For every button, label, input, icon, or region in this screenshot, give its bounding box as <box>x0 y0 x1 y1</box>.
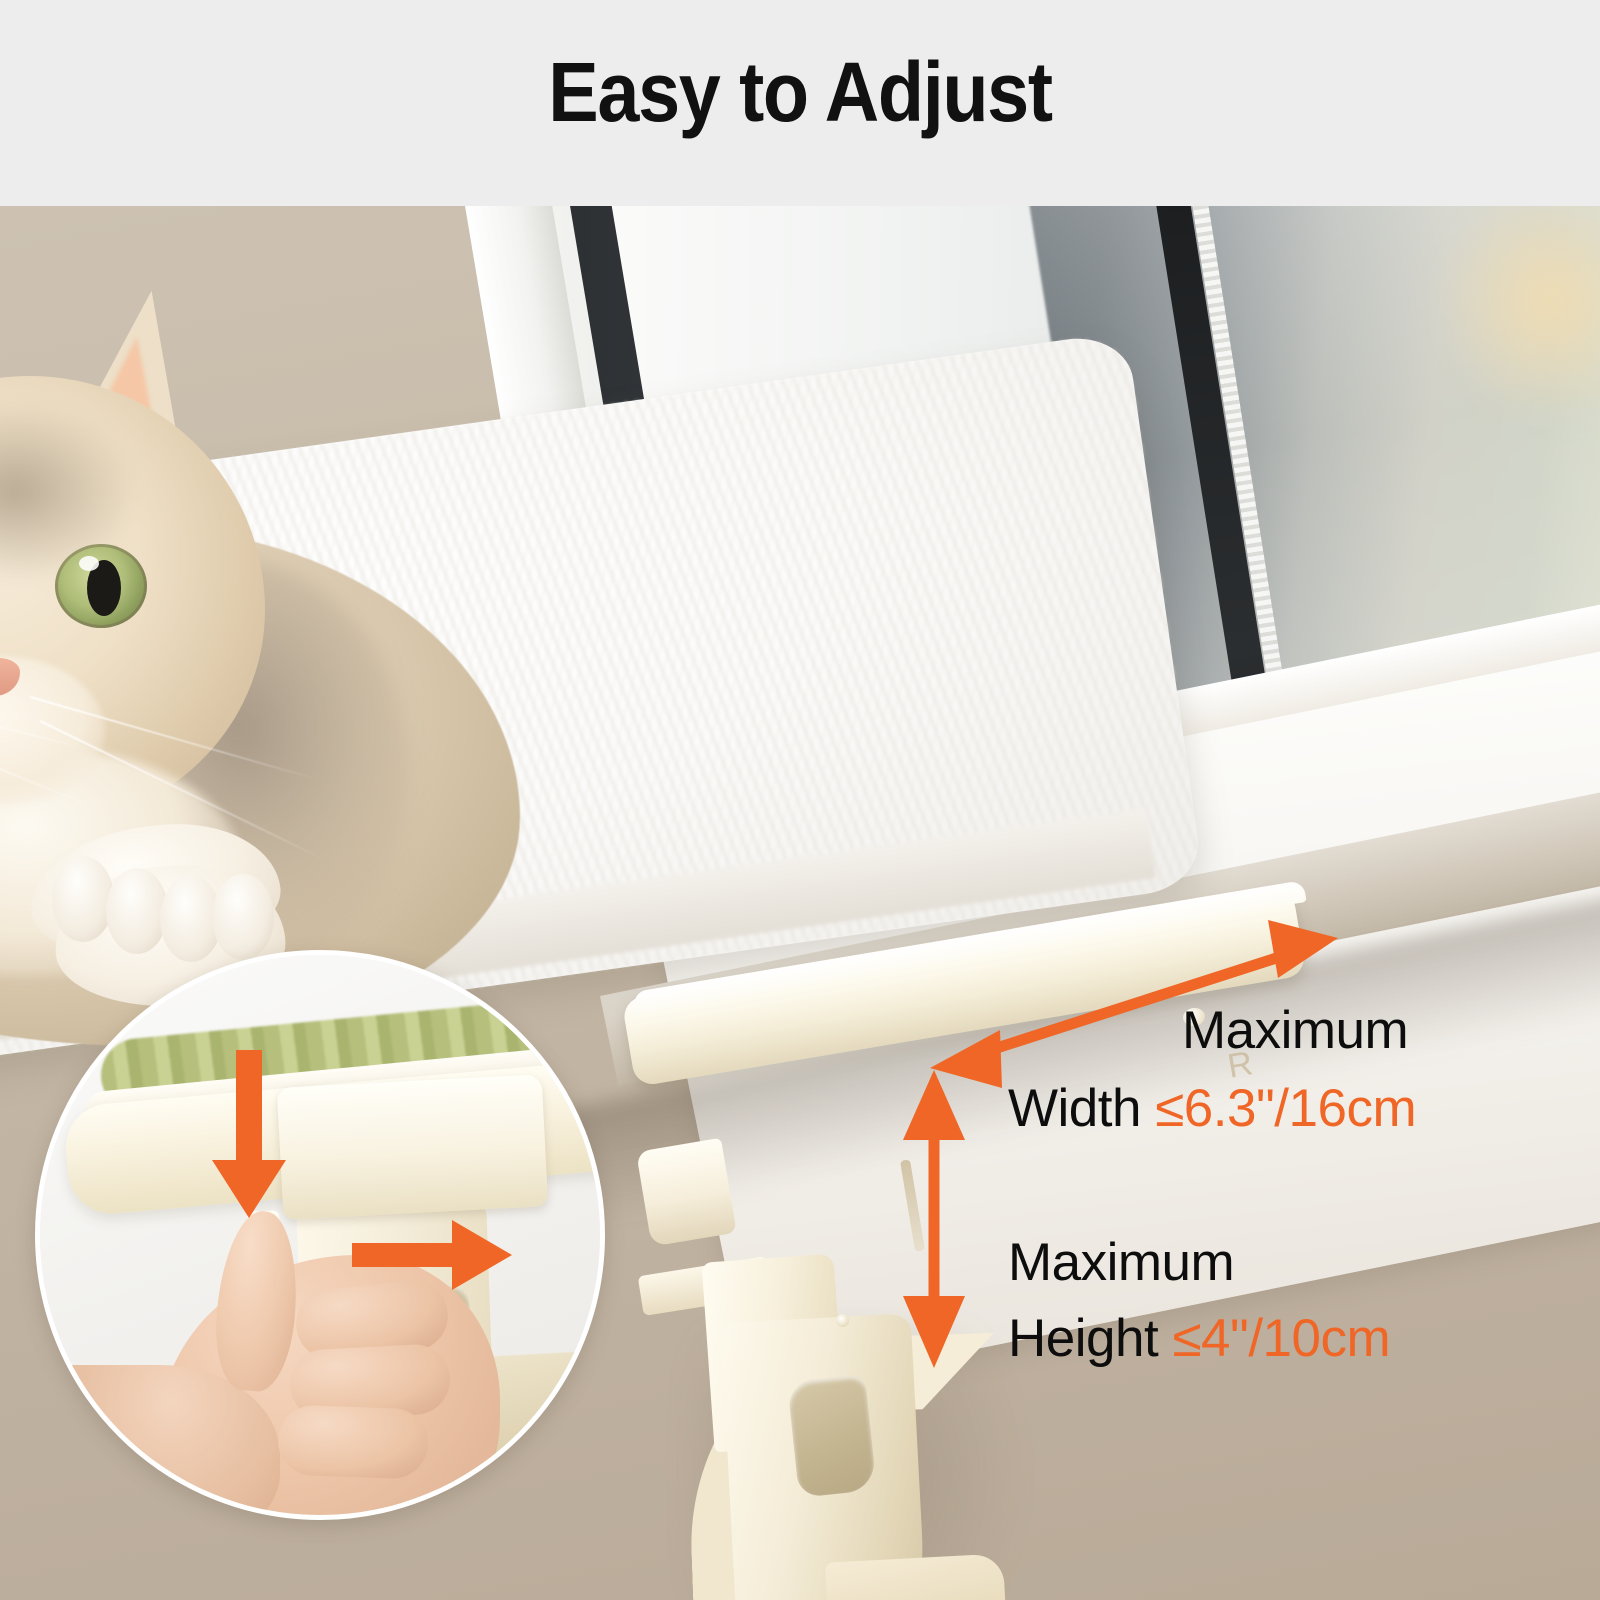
inset-step-arrows <box>40 955 605 1520</box>
bracket-pin <box>836 1314 849 1327</box>
cat-toe <box>212 874 274 960</box>
press-down-arrow-icon <box>212 1050 286 1218</box>
perch-support-bracket: R <box>700 1258 1000 1600</box>
slide-right-arrow-icon <box>352 1220 512 1290</box>
cat-toe <box>52 856 114 942</box>
header-band: Easy to Adjust <box>0 0 1600 206</box>
bracket-cutout <box>787 1374 877 1498</box>
page-title: Easy to Adjust <box>80 44 1520 140</box>
cat-toe <box>106 868 168 954</box>
perch-rail-end-cap <box>636 1138 737 1247</box>
adjustment-detail-inset <box>35 950 605 1520</box>
product-feature-poster: R R <box>0 0 1600 1600</box>
bracket-foot <box>825 1553 1009 1600</box>
cat-right-eye-glint <box>79 556 99 571</box>
outdoor-warm-light-blur <box>1440 206 1600 416</box>
